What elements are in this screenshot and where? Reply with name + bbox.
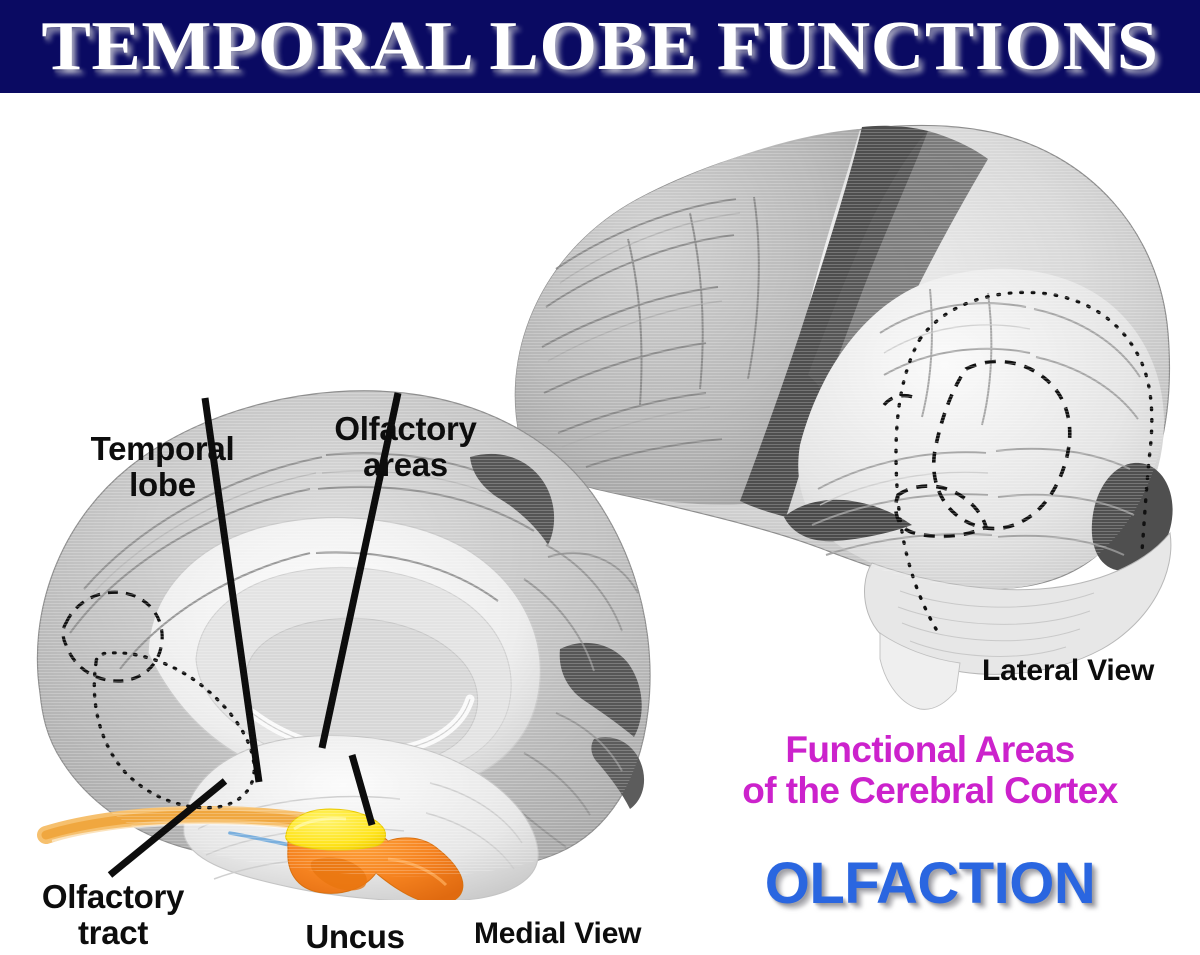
page-title: TEMPORAL LOBE FUNCTIONS bbox=[41, 12, 1158, 82]
figure-caption-block: Functional Areas of the Cerebral Cortex bbox=[675, 729, 1185, 811]
lateral-scanline-texture bbox=[515, 125, 1169, 588]
label-lateral-view: Lateral View bbox=[982, 654, 1154, 688]
slide-title-bar: TEMPORAL LOBE FUNCTIONS bbox=[0, 0, 1200, 93]
label-temporal-lobe: Temporal lobe bbox=[60, 431, 265, 502]
label-medial-view: Medial View bbox=[474, 917, 641, 951]
caption-line-1: Functional Areas bbox=[675, 729, 1185, 770]
label-olfactory-areas: Olfactory areas bbox=[318, 411, 493, 482]
olfaction-highlight-word: OLFACTION bbox=[675, 850, 1185, 917]
slide-content-area: Temporal lobe Olfactory areas Olfactory … bbox=[0, 93, 1200, 900]
label-olfactory-tract: Olfactory tract bbox=[8, 879, 218, 950]
label-uncus: Uncus bbox=[290, 919, 420, 955]
caption-line-2: of the Cerebral Cortex bbox=[675, 770, 1185, 811]
